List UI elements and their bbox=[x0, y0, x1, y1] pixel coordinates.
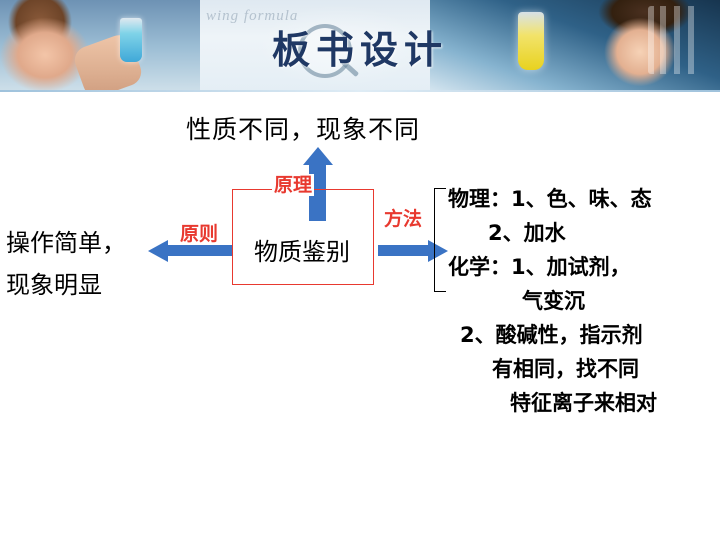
left-text-block: 操作简单， 现象明显 bbox=[6, 222, 126, 306]
right-text-line-5: 2、酸碱性，指示剂 bbox=[448, 318, 714, 352]
arrow-right-shaft bbox=[378, 245, 430, 256]
right-text-line-1: 物理：1、色、味、态 bbox=[448, 182, 714, 216]
right-text-line-3: 化学：1、加试剂， bbox=[448, 250, 714, 284]
right-brace bbox=[434, 188, 446, 292]
right-text-line-7: 特征离子来相对 bbox=[448, 386, 714, 420]
slide-header-banner: wing formula 板书设计 bbox=[0, 0, 720, 92]
arrow-left-shaft bbox=[166, 245, 232, 256]
right-text-line-6: 有相同，找不同 bbox=[448, 352, 714, 386]
label-rule: 原则 bbox=[178, 219, 220, 246]
right-text-line-4: 气变沉 bbox=[448, 284, 714, 318]
slide-title-text: 板书设计 bbox=[272, 19, 448, 74]
left-text-line-2: 现象明显 bbox=[6, 264, 126, 306]
top-text: 性质不同，现象不同 bbox=[186, 110, 420, 146]
center-node: 物质鉴别 bbox=[232, 232, 372, 266]
label-principle: 原理 bbox=[272, 174, 314, 196]
slide-title: 板书设计 bbox=[0, 0, 720, 92]
arrow-left-head bbox=[148, 240, 168, 262]
slide-body: 性质不同，现象不同 原理 原则 方法 物质鉴别 操作简单， 现象明显 物理：1、… bbox=[0, 92, 720, 536]
right-text-line-2: 2、加水 bbox=[448, 216, 714, 250]
left-text-line-1: 操作简单， bbox=[6, 222, 126, 264]
right-text-block: 物理：1、色、味、态 2、加水 化学：1、加试剂， 气变沉 2、酸碱性，指示剂 … bbox=[448, 182, 714, 420]
label-method: 方法 bbox=[382, 204, 424, 231]
